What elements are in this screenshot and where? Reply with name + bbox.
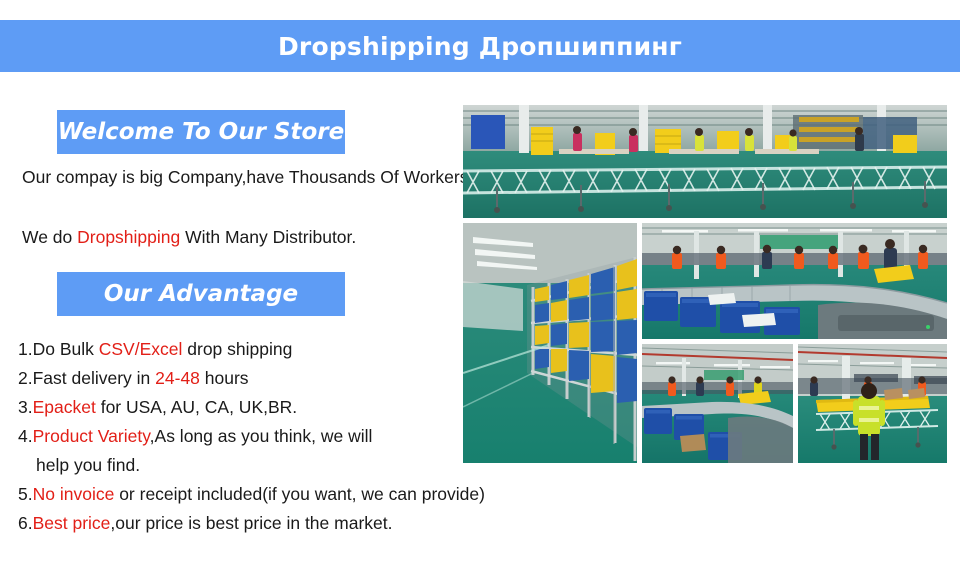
advantage-badge: Our Advantage xyxy=(57,272,345,316)
advantage-item-number: 3. xyxy=(18,397,33,417)
body-text: hours xyxy=(200,368,249,388)
photo-warehouse-packing-line-wide xyxy=(463,105,947,218)
advantage-item-number: 4. xyxy=(18,426,33,446)
body-text: Fast delivery in xyxy=(33,368,156,388)
body-text: drop shipping xyxy=(182,339,292,359)
body-text: We do xyxy=(22,227,77,247)
intro-paragraph-2: We do Dropshipping With Many Distributor… xyxy=(22,222,474,252)
photo-grid xyxy=(463,105,947,463)
sorting-conveyor-illustration xyxy=(642,223,947,339)
body-text: for USA, AU, CA, UK,BR. xyxy=(96,397,297,417)
advantage-item-number: 6. xyxy=(18,513,33,533)
highlight-text: Best price xyxy=(33,513,111,533)
body-text: With Many Distributor. xyxy=(180,227,356,247)
welcome-badge: Welcome To Our Store xyxy=(57,110,345,154)
body-text: or receipt included(if you want, we can … xyxy=(114,484,485,504)
packing-floor-illustration xyxy=(798,344,947,463)
body-text: ,As long as you think, we will xyxy=(150,426,373,446)
advantage-item-number: 1. xyxy=(18,339,33,359)
sorting-line-illustration xyxy=(642,344,793,463)
photo-sorting-conveyor-workers xyxy=(642,223,947,339)
photo-warehouse-storage-racks xyxy=(463,223,637,463)
intro-paragraph-1: Our compay is big Company,have Thousands… xyxy=(22,162,474,192)
photo-packing-floor-green-vest xyxy=(798,344,947,463)
warehouse-packing-line-illustration xyxy=(463,105,947,218)
highlight-text: 24-48 xyxy=(155,368,200,388)
advantage-item: 6.Best price,our price is best price in … xyxy=(18,509,618,538)
advantage-item-number: 5. xyxy=(18,484,33,504)
left-content-column: Welcome To Our Store Our compay is big C… xyxy=(0,92,462,580)
page-header-banner: Dropshipping Дропшиппинг xyxy=(0,20,960,72)
advantage-item-number: 2. xyxy=(18,368,33,388)
page-title: Dropshipping Дропшиппинг xyxy=(278,32,682,61)
body-text: Do Bulk xyxy=(33,339,99,359)
highlight-text: Epacket xyxy=(33,397,96,417)
highlight-text: Product Variety xyxy=(33,426,150,446)
highlight-text: Dropshipping xyxy=(77,227,180,247)
storage-racks-illustration xyxy=(463,223,637,463)
photo-sorting-line-blue-totes xyxy=(642,344,793,463)
highlight-text: No invoice xyxy=(33,484,115,504)
highlight-text: CSV/Excel xyxy=(99,339,183,359)
body-text: Our compay is big Company,have Thousands… xyxy=(22,167,473,187)
body-text: ,our price is best price in the market. xyxy=(110,513,392,533)
advantage-item: 5.No invoice or receipt included(if you … xyxy=(18,480,618,509)
